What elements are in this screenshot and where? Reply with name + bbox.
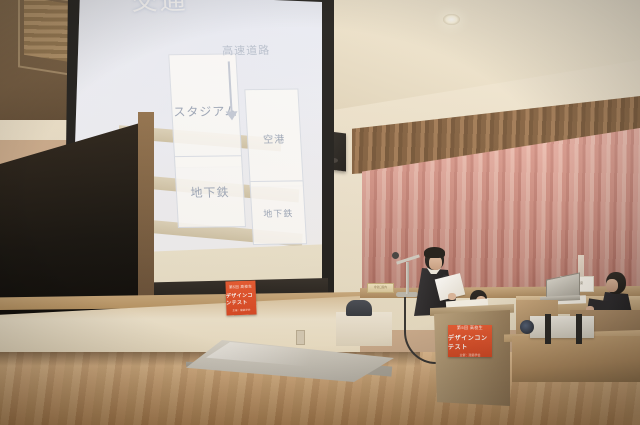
video-projector: [530, 316, 594, 338]
presenter-hair: [424, 247, 445, 258]
auditorium-presentation-photo: 交通 スタジアム 空港 地下鉄 地下鉄 高速道路 第5回 高校生 デザインコンテ…: [0, 0, 640, 425]
wall-plaque-text: 非常口案内: [368, 285, 393, 289]
ceiling-downlight-icon: [443, 14, 460, 25]
event-sign-stage: 第5回 高校生 デザインコンテスト 主催：建築学会: [225, 280, 256, 315]
podium-sign-line1: 第5回 高校生: [457, 325, 483, 331]
chair-backrest: [346, 300, 372, 316]
judge-face: [606, 279, 618, 292]
event-sign-line1: 第5回 高校生: [229, 284, 252, 290]
projector-lens-icon: [520, 320, 534, 334]
stage-wing-edge: [138, 112, 154, 317]
podium-sign-line3: 主催：建築学会: [459, 353, 480, 357]
side-cabinet: [336, 312, 392, 346]
projector-strap: [545, 314, 551, 344]
stage-wing-shadow: [0, 120, 150, 320]
microphone-stand-pole: [406, 262, 409, 294]
wall-outlet-icon: [296, 330, 305, 345]
podium-sign-line2: デザインコンテスト: [448, 333, 492, 351]
presenter-face: [429, 256, 442, 270]
projector-strap: [576, 314, 582, 344]
event-sign-line3: 主催：建築学会: [232, 307, 250, 312]
event-sign-line2: デザインコンテスト: [226, 291, 256, 306]
event-sign-podium: 第5回 高校生 デザインコンテスト 主催：建築学会: [448, 325, 492, 357]
wall-plaque: 非常口案内: [367, 283, 394, 293]
presenter-hand: [448, 293, 456, 300]
microphone-icon: [392, 252, 399, 259]
